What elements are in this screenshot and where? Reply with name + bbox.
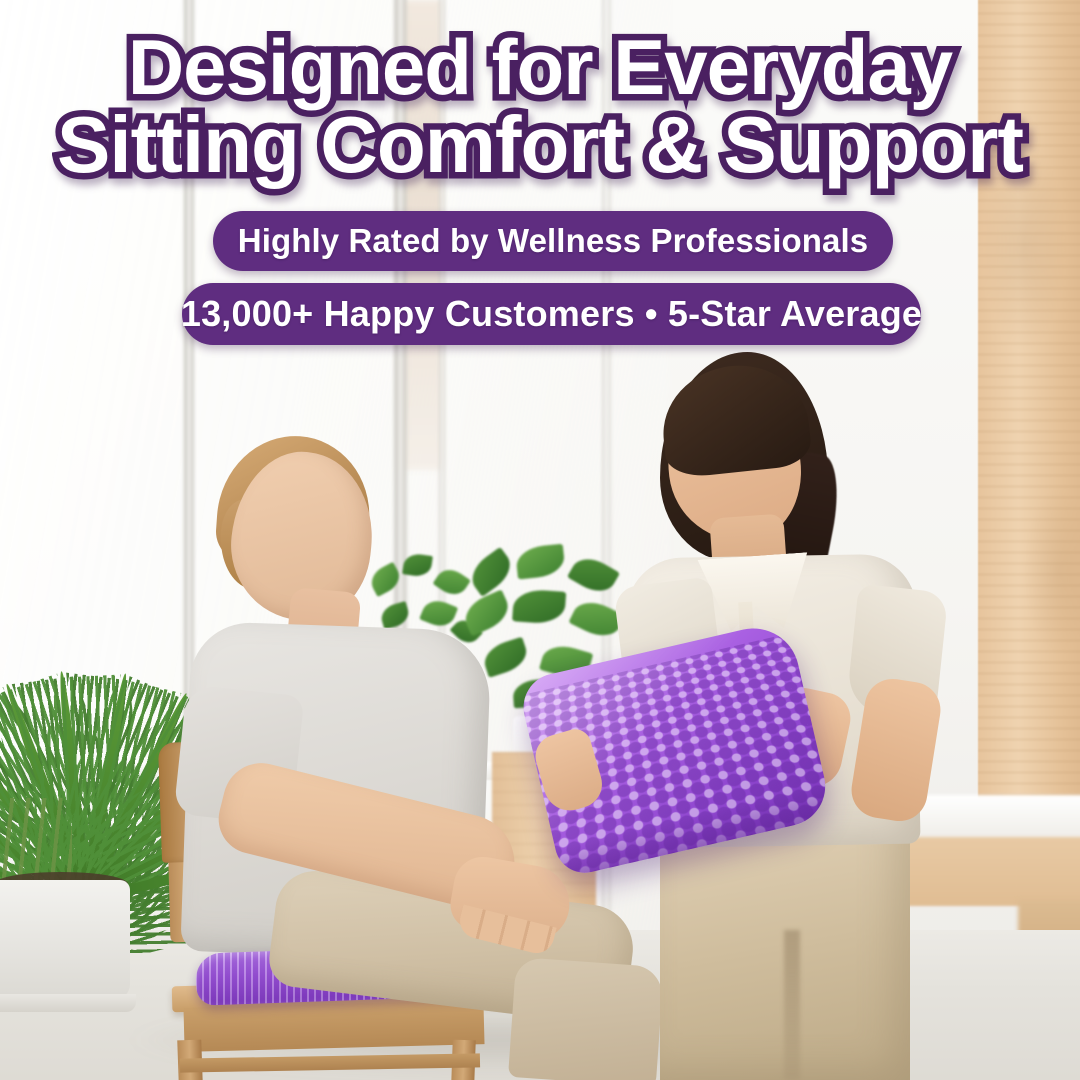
badge-trust: Highly Rated by Wellness Professionals: [213, 211, 893, 271]
product-promo-poster: Designed for Everyday Sitting Comfort & …: [0, 0, 1080, 1080]
headline-line-2: Sitting Comfort & Support: [0, 106, 1080, 184]
badge-social-proof: 13,000+ Happy Customers • 5-Star Average: [182, 283, 921, 345]
page-title: Designed for Everyday Sitting Comfort & …: [0, 30, 1080, 183]
headline-line-1: Designed for Everyday: [128, 23, 952, 111]
text-overlay: Designed for Everyday Sitting Comfort & …: [0, 0, 1080, 1080]
